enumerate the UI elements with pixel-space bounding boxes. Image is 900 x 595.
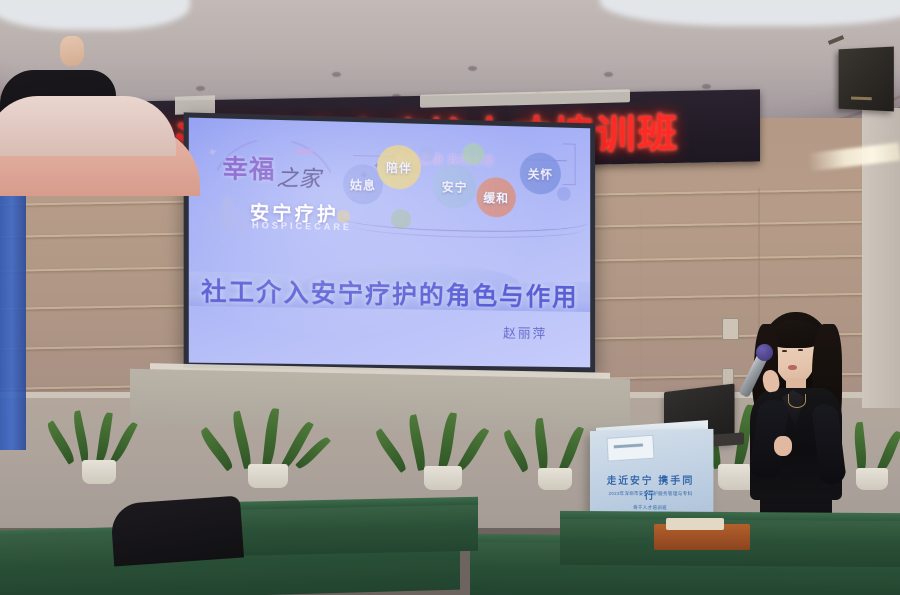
speaker-brand-plate xyxy=(851,97,872,101)
potted-plant xyxy=(516,418,596,492)
plant-frond xyxy=(406,414,427,471)
folded-towel xyxy=(0,215,72,271)
downlight xyxy=(468,66,477,71)
screen-glare xyxy=(189,118,590,368)
plant-frond xyxy=(457,426,490,473)
projection-screen-surface: 您的健康 我的心愿 ✦ 幸福 之家 ✦ ✦ 安宁疗护 HOSPICECARE 姑… xyxy=(189,118,590,368)
name-card-decoration xyxy=(0,300,11,309)
plant-pot xyxy=(856,468,888,490)
potted-plant xyxy=(222,408,318,488)
wooden-box-lid-paper xyxy=(666,518,724,530)
presenter-eye xyxy=(782,350,787,352)
plant-frond xyxy=(230,411,254,470)
plant-frond xyxy=(533,418,550,471)
downlight xyxy=(196,86,205,91)
presenter-necklace xyxy=(788,394,806,408)
name-card-decoration xyxy=(0,201,10,211)
presenter-mouth xyxy=(788,365,797,370)
podium-paper-card xyxy=(607,435,655,462)
presenter-eye xyxy=(798,349,803,351)
downlight xyxy=(702,84,711,89)
name-card-decoration xyxy=(0,273,12,282)
attendee-left-arm xyxy=(110,496,244,567)
name-card xyxy=(0,268,84,294)
potted-plant xyxy=(396,412,492,490)
plant-pot xyxy=(248,464,288,488)
plant-pot xyxy=(424,466,462,490)
downlight xyxy=(332,72,341,77)
plant-pot xyxy=(538,468,572,490)
podium-subline-1: 2023年深圳市安宁疗护服务管理与专科 xyxy=(598,490,705,498)
plant-frond xyxy=(71,410,91,463)
plant-frond xyxy=(96,412,113,463)
plant-frond xyxy=(262,408,279,469)
name-card-decoration xyxy=(0,309,10,317)
name-card xyxy=(0,293,76,320)
presenter-hand xyxy=(774,436,792,456)
photo-scene: 2023年深圳市安宁疗护人才培训班 您的健康 我的心愿 ✦ 幸福 之家 ✦ ✦ … xyxy=(0,0,900,595)
plant-frond xyxy=(110,420,137,463)
attendee-face-side xyxy=(60,36,84,66)
plant-frond xyxy=(853,422,868,473)
plant-frond xyxy=(438,412,457,471)
name-card-decoration xyxy=(0,282,11,291)
plant-frond xyxy=(558,425,584,474)
potted-plant xyxy=(62,410,142,484)
plant-pot xyxy=(82,460,116,484)
microphone-head xyxy=(756,344,773,361)
wall-vertical-seam xyxy=(640,210,642,400)
wall-speaker xyxy=(839,47,894,112)
attendee-shoulders xyxy=(0,96,176,156)
projection-screen: 您的健康 我的心愿 ✦ 幸福 之家 ✦ ✦ 安宁疗护 HOSPICECARE 姑… xyxy=(184,112,595,372)
light-switch[interactable] xyxy=(722,318,739,340)
downlight xyxy=(604,72,613,77)
